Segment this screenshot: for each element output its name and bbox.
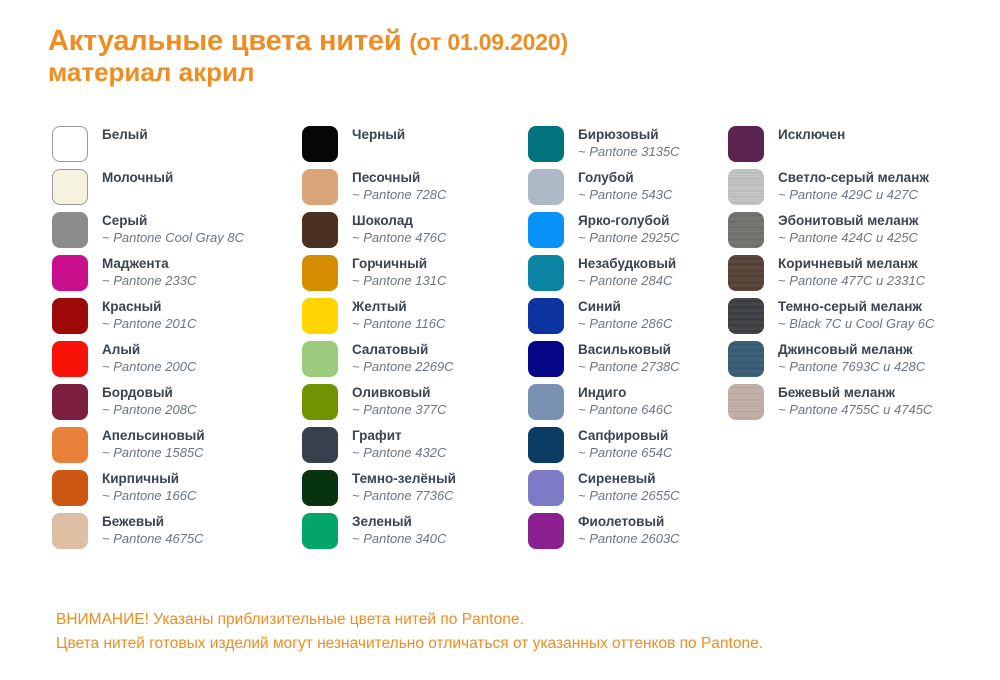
color-swatch: [52, 427, 88, 463]
pantone-reference: ~ Pantone 377C: [352, 402, 446, 418]
pantone-reference: ~ Pantone 208C: [102, 402, 196, 418]
pantone-reference: ~ Pantone 2925C: [578, 230, 680, 246]
color-row: Васильковый~ Pantone 2738C: [528, 341, 728, 384]
pantone-reference: ~ Pantone 2269C: [352, 359, 454, 375]
color-labels: Красный~ Pantone 201C: [102, 298, 196, 332]
color-name: Бирюзовый: [578, 127, 680, 144]
color-row: Бежевый~ Pantone 4675C: [52, 513, 292, 556]
pantone-reference: ~ Pantone 131C: [352, 273, 446, 289]
swatch-column-4: ИсключенСветло-серый меланж~ Pantone 429…: [728, 126, 990, 427]
color-labels: Апельсиновый~ Pantone 1585C: [102, 427, 205, 461]
color-labels: Оливковый~ Pantone 377C: [352, 384, 446, 418]
color-labels: Исключен: [778, 126, 845, 144]
color-swatch: [302, 255, 338, 291]
swatch-column-3: Бирюзовый~ Pantone 3135CГолубой~ Pantone…: [528, 126, 728, 556]
page-title: Актуальные цвета нитей (от 01.09.2020): [48, 26, 948, 57]
color-swatch: [52, 255, 88, 291]
pantone-reference: ~ Pantone 286C: [578, 316, 672, 332]
color-name: Апельсиновый: [102, 428, 205, 445]
pantone-reference: ~ Pantone 1585C: [102, 445, 205, 461]
color-swatch: [528, 212, 564, 248]
color-row: Сапфировый~ Pantone 654C: [528, 427, 728, 470]
color-labels: Белый: [102, 126, 148, 144]
pantone-reference: ~ Pantone 646C: [578, 402, 672, 418]
color-name: Белый: [102, 127, 148, 144]
color-row: Графит~ Pantone 432C: [302, 427, 532, 470]
color-name: Сапфировый: [578, 428, 672, 445]
color-labels: Васильковый~ Pantone 2738C: [578, 341, 680, 375]
color-swatch: [52, 298, 88, 334]
color-row: Темно-зелёный~ Pantone 7736C: [302, 470, 532, 513]
color-labels: Черный: [352, 126, 405, 144]
color-swatch: [302, 513, 338, 549]
color-swatch: [52, 341, 88, 377]
disclaimer-line-1: ВНИМАНИЕ! Указаны приблизительные цвета …: [56, 608, 956, 632]
color-row: Сиреневый~ Pantone 2655C: [528, 470, 728, 513]
color-row: Шоколад~ Pantone 476C: [302, 212, 532, 255]
color-swatch: [528, 384, 564, 420]
pantone-reference: ~ Pantone 2738C: [578, 359, 680, 375]
pantone-reference: ~ Pantone 429C и 427C: [778, 187, 929, 203]
color-name: Фиолетовый: [578, 514, 680, 531]
swatch-column-1: БелыйМолочныйСерый~ Pantone Cool Gray 8C…: [52, 126, 292, 556]
color-name: Оливковый: [352, 385, 446, 402]
color-row: Салатовый~ Pantone 2269C: [302, 341, 532, 384]
color-row: Синий~ Pantone 286C: [528, 298, 728, 341]
color-name: Салатовый: [352, 342, 454, 359]
color-name: Джинсовый меланж: [778, 342, 925, 359]
pantone-reference: ~ Pantone 200C: [102, 359, 196, 375]
color-labels: Незабудковый~ Pantone 284C: [578, 255, 676, 289]
color-row: Молочный: [52, 169, 292, 212]
color-name: Синий: [578, 299, 672, 316]
color-labels: Синий~ Pantone 286C: [578, 298, 672, 332]
pantone-reference: ~ Pantone 477C и 2331C: [778, 273, 925, 289]
color-name: Сиреневый: [578, 471, 680, 488]
color-name: Шоколад: [352, 213, 446, 230]
color-swatch: [528, 169, 564, 205]
color-row: Серый~ Pantone Cool Gray 8C: [52, 212, 292, 255]
color-labels: Песочный~ Pantone 728C: [352, 169, 446, 203]
color-labels: Алый~ Pantone 200C: [102, 341, 196, 375]
color-row: Ярко-голубой~ Pantone 2925C: [528, 212, 728, 255]
color-swatch: [728, 341, 764, 377]
color-labels: Молочный: [102, 169, 173, 187]
color-swatch: [528, 298, 564, 334]
color-swatch: [528, 513, 564, 549]
color-row: Красный~ Pantone 201C: [52, 298, 292, 341]
color-swatch: [528, 470, 564, 506]
pantone-reference: ~ Pantone Cool Gray 8C: [102, 230, 244, 246]
color-name: Кирпичный: [102, 471, 196, 488]
color-labels: Маджента~ Pantone 233C: [102, 255, 196, 289]
color-labels: Серый~ Pantone Cool Gray 8C: [102, 212, 244, 246]
pantone-reference: ~ Pantone 654C: [578, 445, 672, 461]
color-name: Светло-серый меланж: [778, 170, 929, 187]
color-name: Серый: [102, 213, 244, 230]
color-labels: Бежевый~ Pantone 4675C: [102, 513, 204, 547]
color-name: Темно-зелёный: [352, 471, 456, 488]
color-labels: Фиолетовый~ Pantone 2603C: [578, 513, 680, 547]
pantone-reference: ~ Pantone 424C и 425C: [778, 230, 919, 246]
color-name: Васильковый: [578, 342, 680, 359]
color-name: Желтый: [352, 299, 445, 316]
color-labels: Темно-серый меланж~ Black 7C и Cool Gray…: [778, 298, 934, 332]
color-name: Бежевый: [102, 514, 204, 531]
color-labels: Кирпичный~ Pantone 166C: [102, 470, 196, 504]
pantone-reference: ~ Pantone 201C: [102, 316, 196, 332]
color-name: Бежевый меланж: [778, 385, 932, 402]
pantone-reference: ~ Pantone 432C: [352, 445, 446, 461]
pantone-reference: ~ Pantone 476C: [352, 230, 446, 246]
pantone-reference: ~ Pantone 2655C: [578, 488, 680, 504]
page-title-main: Актуальные цвета нитей: [48, 25, 401, 57]
color-row: Горчичный~ Pantone 131C: [302, 255, 532, 298]
color-swatch: [52, 169, 88, 205]
color-swatch: [728, 255, 764, 291]
color-row: Кирпичный~ Pantone 166C: [52, 470, 292, 513]
color-swatch: [528, 341, 564, 377]
color-swatch: [728, 126, 764, 162]
color-name: Зеленый: [352, 514, 446, 531]
pantone-reference: ~ Pantone 116C: [352, 316, 445, 332]
color-swatch: [528, 427, 564, 463]
page-subtitle: материал акрил: [48, 58, 948, 87]
color-swatch: [528, 255, 564, 291]
color-labels: Зеленый~ Pantone 340C: [352, 513, 446, 547]
color-swatch: [728, 212, 764, 248]
color-swatch: [52, 513, 88, 549]
color-labels: Джинсовый меланж~ Pantone 7693C и 428C: [778, 341, 925, 375]
color-labels: Сапфировый~ Pantone 654C: [578, 427, 672, 461]
color-labels: Индиго~ Pantone 646C: [578, 384, 672, 418]
color-row: Бежевый меланж~ Pantone 4755C и 4745C: [728, 384, 990, 427]
color-labels: Ярко-голубой~ Pantone 2925C: [578, 212, 680, 246]
color-name: Темно-серый меланж: [778, 299, 934, 316]
color-swatch: [302, 126, 338, 162]
color-labels: Эбонитовый меланж~ Pantone 424C и 425C: [778, 212, 919, 246]
color-swatch: [728, 298, 764, 334]
pantone-reference: ~ Pantone 7736C: [352, 488, 456, 504]
color-swatch: [728, 169, 764, 205]
color-swatch: [302, 427, 338, 463]
color-row: Джинсовый меланж~ Pantone 7693C и 428C: [728, 341, 990, 384]
color-labels: Бирюзовый~ Pantone 3135C: [578, 126, 680, 160]
color-labels: Голубой~ Pantone 543C: [578, 169, 672, 203]
color-swatch: [528, 126, 564, 162]
color-name: Бордовый: [102, 385, 196, 402]
color-name: Песочный: [352, 170, 446, 187]
color-name: Голубой: [578, 170, 672, 187]
color-name: Маджента: [102, 256, 196, 273]
color-row: Зеленый~ Pantone 340C: [302, 513, 532, 556]
color-row: Эбонитовый меланж~ Pantone 424C и 425C: [728, 212, 990, 255]
color-row: Песочный~ Pantone 728C: [302, 169, 532, 212]
color-name: Графит: [352, 428, 446, 445]
pantone-reference: ~ Pantone 284C: [578, 273, 676, 289]
color-swatch: [52, 212, 88, 248]
color-row: Исключен: [728, 126, 990, 169]
color-name: Незабудковый: [578, 256, 676, 273]
color-name: Горчичный: [352, 256, 446, 273]
color-labels: Светло-серый меланж~ Pantone 429C и 427C: [778, 169, 929, 203]
color-labels: Сиреневый~ Pantone 2655C: [578, 470, 680, 504]
color-row: Маджента~ Pantone 233C: [52, 255, 292, 298]
color-swatch: [52, 470, 88, 506]
color-labels: Бежевый меланж~ Pantone 4755C и 4745C: [778, 384, 932, 418]
color-name: Коричневый меланж: [778, 256, 925, 273]
color-row: Голубой~ Pantone 543C: [528, 169, 728, 212]
disclaimer-line-2: Цвета нитей готовых изделий могут незнач…: [56, 632, 956, 656]
color-name: Ярко-голубой: [578, 213, 680, 230]
page-title-date: (от 01.09.2020): [409, 29, 568, 55]
pantone-reference: ~ Pantone 7693C и 428C: [778, 359, 925, 375]
pantone-reference: ~ Pantone 166C: [102, 488, 196, 504]
pantone-reference: ~ Pantone 4755C и 4745C: [778, 402, 932, 418]
color-row: Белый: [52, 126, 292, 169]
pantone-reference: ~ Pantone 728C: [352, 187, 446, 203]
color-name: Черный: [352, 127, 405, 144]
color-row: Индиго~ Pantone 646C: [528, 384, 728, 427]
pantone-reference: ~ Pantone 340C: [352, 531, 446, 547]
color-row: Бордовый~ Pantone 208C: [52, 384, 292, 427]
color-labels: Желтый~ Pantone 116C: [352, 298, 445, 332]
color-swatch: [52, 384, 88, 420]
page-header: Актуальные цвета нитей (от 01.09.2020) м…: [48, 26, 948, 87]
pantone-reference: ~ Black 7C и Cool Gray 6C: [778, 316, 934, 332]
color-swatch: [302, 212, 338, 248]
color-labels: Салатовый~ Pantone 2269C: [352, 341, 454, 375]
color-swatch-grid: БелыйМолочныйСерый~ Pantone Cool Gray 8C…: [0, 126, 1000, 586]
pantone-reference: ~ Pantone 3135C: [578, 144, 680, 160]
color-swatch: [728, 384, 764, 420]
pantone-reference: ~ Pantone 4675C: [102, 531, 204, 547]
color-row: Черный: [302, 126, 532, 169]
color-swatch: [302, 384, 338, 420]
color-row: Незабудковый~ Pantone 284C: [528, 255, 728, 298]
color-labels: Шоколад~ Pantone 476C: [352, 212, 446, 246]
color-labels: Бордовый~ Pantone 208C: [102, 384, 196, 418]
color-swatch: [302, 470, 338, 506]
color-row: Фиолетовый~ Pantone 2603C: [528, 513, 728, 556]
color-row: Светло-серый меланж~ Pantone 429C и 427C: [728, 169, 990, 212]
color-swatch: [302, 298, 338, 334]
color-name: Алый: [102, 342, 196, 359]
color-labels: Горчичный~ Pantone 131C: [352, 255, 446, 289]
color-name: Эбонитовый меланж: [778, 213, 919, 230]
color-name: Молочный: [102, 170, 173, 187]
color-labels: Темно-зелёный~ Pantone 7736C: [352, 470, 456, 504]
swatch-column-2: ЧерныйПесочный~ Pantone 728CШоколад~ Pan…: [302, 126, 532, 556]
color-row: Коричневый меланж~ Pantone 477C и 2331C: [728, 255, 990, 298]
color-labels: Коричневый меланж~ Pantone 477C и 2331C: [778, 255, 925, 289]
color-swatch: [302, 169, 338, 205]
color-labels: Графит~ Pantone 432C: [352, 427, 446, 461]
color-row: Оливковый~ Pantone 377C: [302, 384, 532, 427]
pantone-reference: ~ Pantone 2603C: [578, 531, 680, 547]
pantone-reference: ~ Pantone 543C: [578, 187, 672, 203]
color-row: Алый~ Pantone 200C: [52, 341, 292, 384]
color-row: Темно-серый меланж~ Black 7C и Cool Gray…: [728, 298, 990, 341]
disclaimer-note: ВНИМАНИЕ! Указаны приблизительные цвета …: [56, 608, 956, 655]
color-row: Апельсиновый~ Pantone 1585C: [52, 427, 292, 470]
color-row: Бирюзовый~ Pantone 3135C: [528, 126, 728, 169]
color-row: Желтый~ Pantone 116C: [302, 298, 532, 341]
pantone-reference: ~ Pantone 233C: [102, 273, 196, 289]
color-swatch: [302, 341, 338, 377]
color-name: Исключен: [778, 127, 845, 144]
color-name: Индиго: [578, 385, 672, 402]
color-name: Красный: [102, 299, 196, 316]
color-swatch: [52, 126, 88, 162]
